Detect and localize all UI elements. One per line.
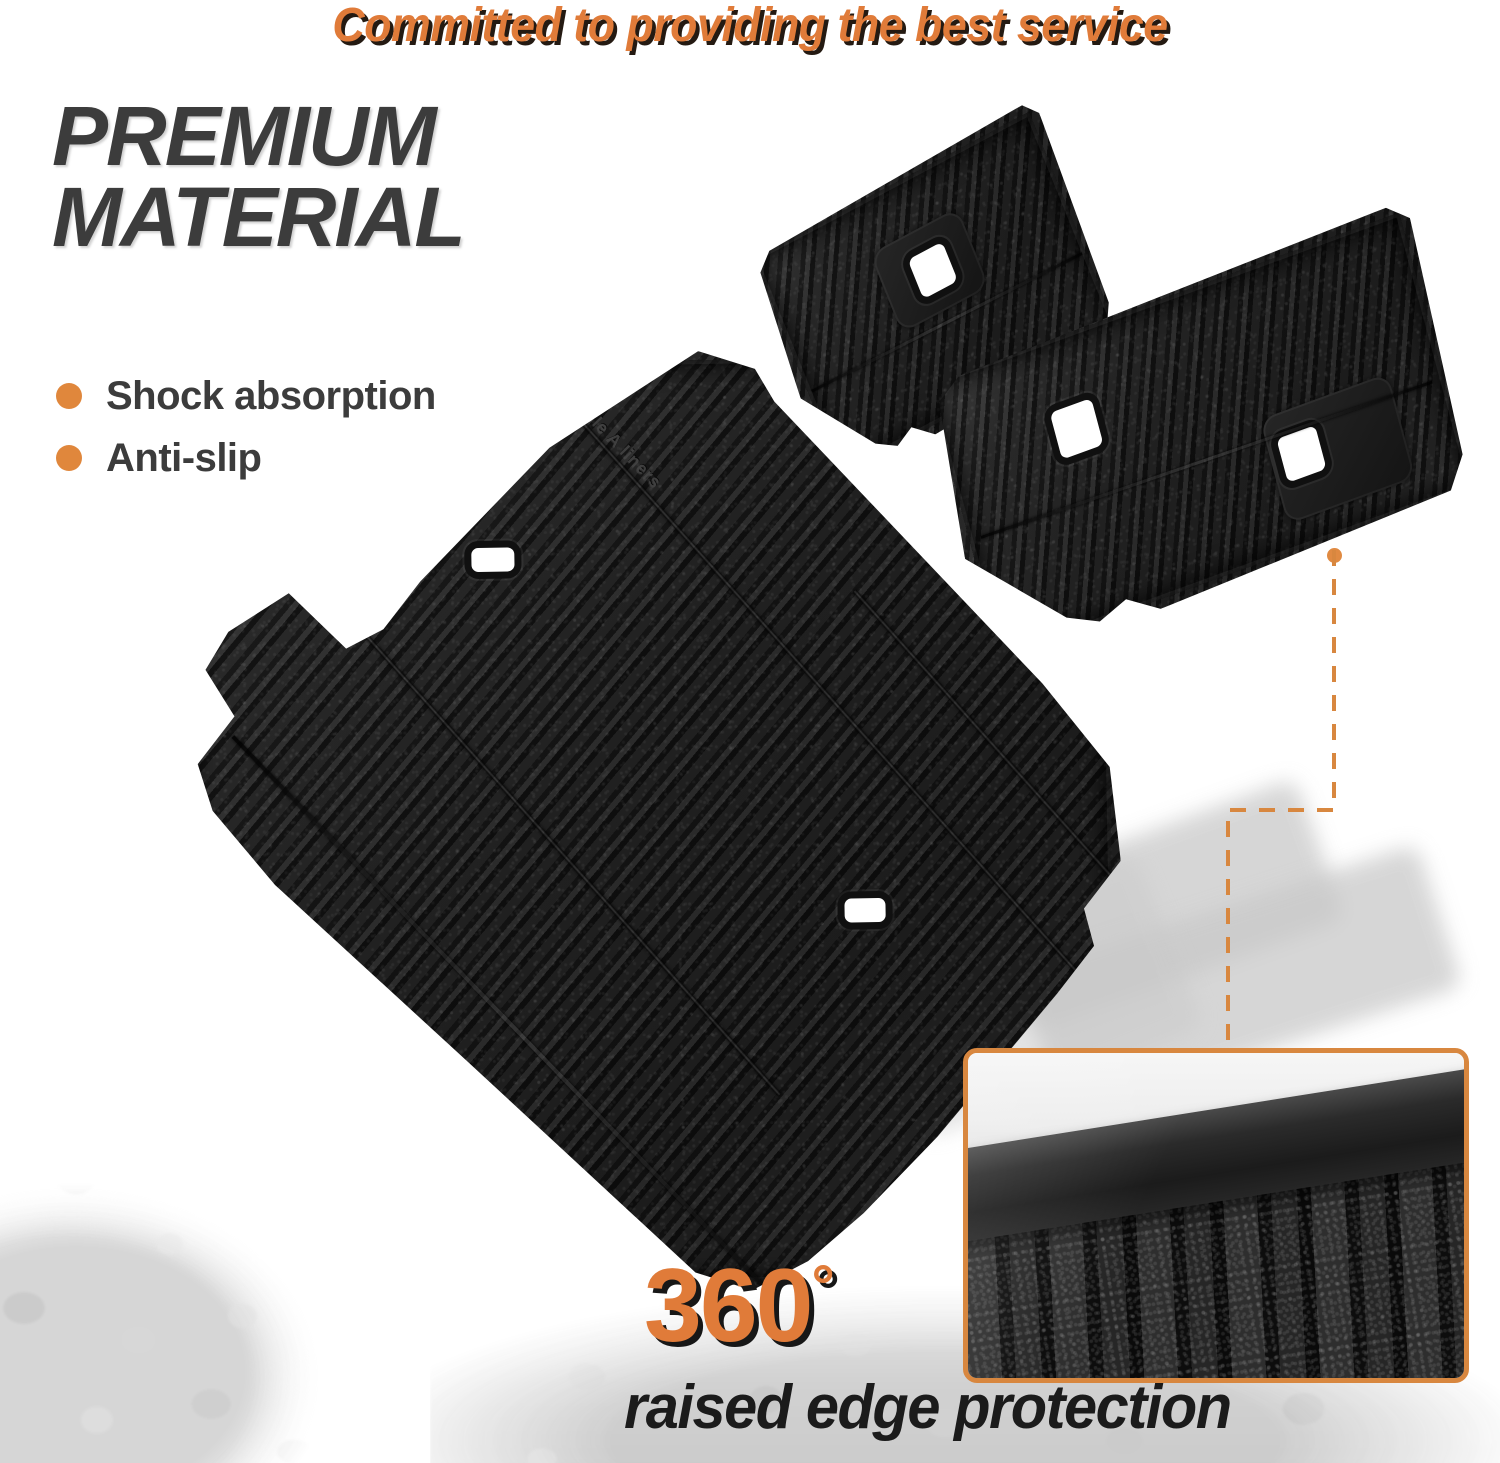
raised-edge-detail-inset: [963, 1048, 1469, 1383]
bullet-dot-icon: [56, 383, 82, 409]
badge-number: 360: [644, 1248, 812, 1364]
badge-subtitle: raised edge protection: [624, 1372, 1231, 1443]
page-title-line-1: PREMIUM: [52, 96, 464, 177]
page-title: PREMIUM MATERIAL: [52, 96, 464, 259]
page-title-line-2: MATERIAL: [52, 177, 464, 258]
callout-anchor-dot-icon: [1327, 548, 1342, 563]
cargo-mat-cutout: [471, 547, 515, 572]
bullet-dot-icon: [56, 445, 82, 471]
badge-360-value: 360°: [644, 1254, 833, 1358]
product-infographic: Committed to providing the best service …: [0, 0, 1500, 1463]
degree-symbol-icon: °: [812, 1253, 833, 1318]
cargo-mat-cutout: [844, 898, 886, 923]
tagline-headline: Committed to providing the best service: [53, 0, 1448, 53]
